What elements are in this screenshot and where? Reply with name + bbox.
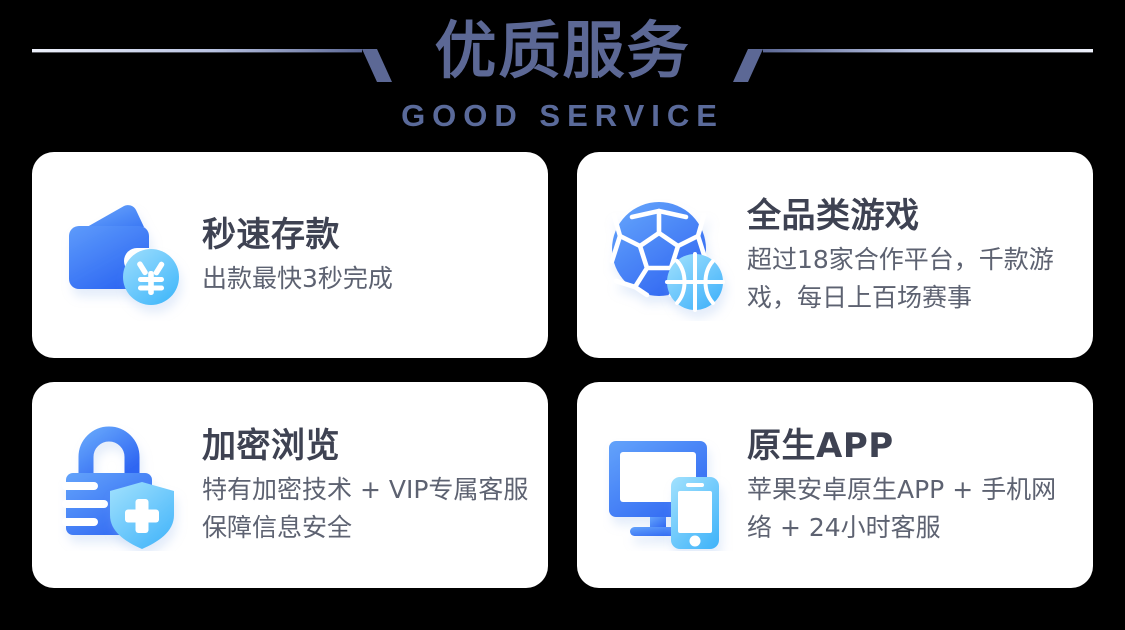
- card-text-block: 原生APP 苹果安卓原生APP + 手机网络 + 24小时客服: [735, 423, 1075, 547]
- card-description: 出款最快3秒完成: [202, 260, 530, 298]
- card-icon-wrapper: [603, 189, 735, 321]
- page-subtitle: GOOD SERVICE: [0, 99, 1125, 133]
- service-card-native-app[interactable]: 原生APP 苹果安卓原生APP + 手机网络 + 24小时客服: [577, 382, 1093, 588]
- card-icon-wrapper: [603, 419, 735, 551]
- card-title: 全品类游戏: [747, 193, 1075, 239]
- card-title: 秒速存款: [202, 212, 530, 258]
- card-text-block: 全品类游戏 超过18家合作平台，千款游戏，每日上百场赛事: [735, 193, 1075, 317]
- page-header: 优质服务 GOOD SERVICE: [0, 0, 1125, 150]
- page-title: 优质服务: [0, 12, 1125, 90]
- card-icon-wrapper: [58, 419, 190, 551]
- service-card-games[interactable]: 全品类游戏 超过18家合作平台，千款游戏，每日上百场赛事: [577, 152, 1093, 358]
- good-service-panel: 优质服务 GOOD SERVICE: [0, 0, 1125, 630]
- card-icon-wrapper: [58, 189, 190, 321]
- card-description: 苹果安卓原生APP + 手机网络 + 24小时客服: [747, 471, 1075, 547]
- card-text-block: 秒速存款 出款最快3秒完成: [190, 212, 530, 298]
- service-card-deposit[interactable]: 秒速存款 出款最快3秒完成: [32, 152, 548, 358]
- card-description: 特有加密技术 + VIP专属客服保障信息安全: [202, 471, 530, 547]
- soccer-basketball-icon: [603, 189, 735, 321]
- service-card-grid: 秒速存款 出款最快3秒完成: [32, 152, 1093, 588]
- lock-shield-icon: [58, 419, 190, 551]
- card-title: 原生APP: [747, 423, 1075, 469]
- service-card-encryption[interactable]: 加密浏览 特有加密技术 + VIP专属客服保障信息安全: [32, 382, 548, 588]
- card-text-block: 加密浏览 特有加密技术 + VIP专属客服保障信息安全: [190, 423, 530, 547]
- card-title: 加密浏览: [202, 423, 530, 469]
- monitor-phone-icon: [603, 419, 735, 551]
- card-description: 超过18家合作平台，千款游戏，每日上百场赛事: [747, 241, 1075, 317]
- wallet-yen-icon: [58, 189, 190, 321]
